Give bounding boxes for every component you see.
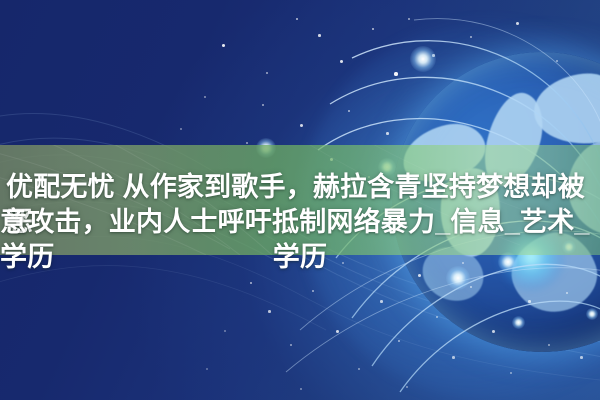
banner-image: 优配无忧 从作家到歌手，赫拉含青坚持梦想却被恶 意攻击，业内人士呼吁抵制网络暴力… xyxy=(0,0,600,400)
banner-caption: 优配无忧 从作家到歌手，赫拉含青坚持梦想却被恶 意攻击，业内人士呼吁抵制网络暴力… xyxy=(0,170,600,345)
caption-line-3: 学历 xyxy=(0,240,600,275)
